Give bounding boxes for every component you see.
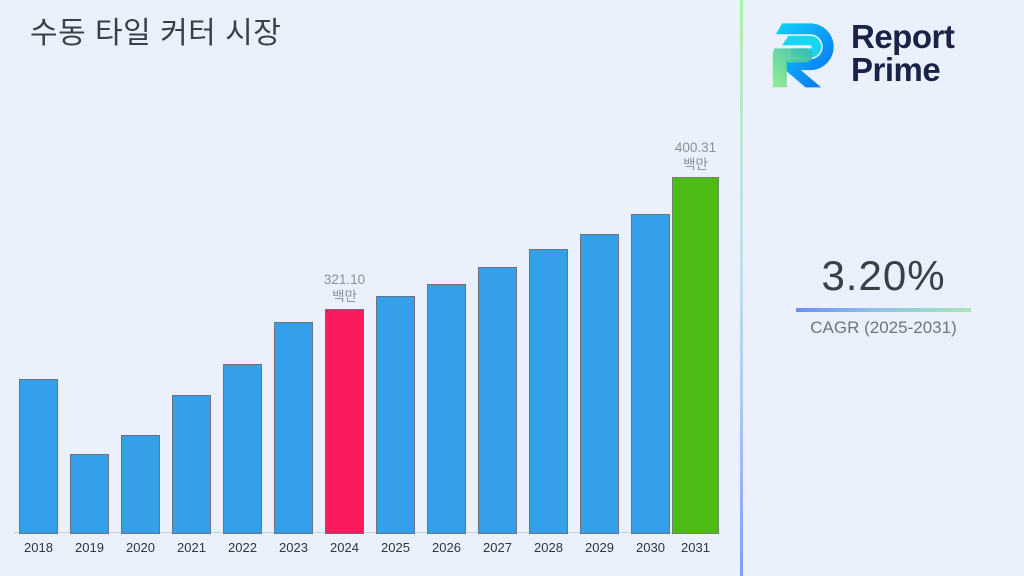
brand-wordmark: Report Prime — [851, 20, 954, 86]
bar-rect-2022 — [223, 364, 262, 534]
bar-rect-2023 — [274, 322, 313, 534]
bar-value-label-2024: 321.10백만 — [324, 271, 365, 305]
brand-panel: Report Prime 3.20% CAGR (2025-2031) — [743, 0, 1024, 576]
bar-rect-2024 — [325, 309, 364, 534]
bar-rect-2026 — [427, 284, 466, 534]
bar-2023 — [274, 322, 313, 534]
chart-panel: 수동 타일 커터 시장 321.10백만400.31백만 20182019202… — [0, 0, 740, 576]
bar-value-label-2031: 400.31백만 — [675, 139, 716, 173]
bar-chart-plot-area: 321.10백만400.31백만 — [0, 0, 740, 534]
bar-rect-2029 — [580, 234, 619, 534]
bar-2018 — [19, 379, 58, 534]
bar-2029 — [580, 234, 619, 534]
brand-logo: Report Prime — [765, 12, 1010, 94]
bar-2028 — [529, 249, 568, 534]
bar-rect-2028 — [529, 249, 568, 534]
x-axis-tick-2031: 2031 — [666, 540, 726, 555]
brand-name-line2: Prime — [851, 53, 954, 86]
report-prime-logo-icon — [765, 17, 843, 89]
bar-value-number-2031: 400.31 — [675, 139, 716, 156]
bar-rect-2018 — [19, 379, 58, 534]
bar-2019 — [70, 454, 109, 534]
bar-2021 — [172, 395, 211, 534]
slide-root: 수동 타일 커터 시장 321.10백만400.31백만 20182019202… — [0, 0, 1024, 576]
bar-2024: 321.10백만 — [325, 309, 364, 534]
bar-2025 — [376, 296, 415, 534]
cagr-caption: CAGR (2025-2031) — [743, 318, 1024, 338]
bar-rect-2025 — [376, 296, 415, 534]
cagr-block: 3.20% CAGR (2025-2031) — [743, 252, 1024, 338]
bar-2030 — [631, 214, 670, 534]
bar-2026 — [427, 284, 466, 534]
bar-2031: 400.31백만 — [672, 177, 719, 534]
bar-2022 — [223, 364, 262, 534]
bar-2027 — [478, 267, 517, 534]
bar-2020 — [121, 435, 160, 534]
bar-rect-2021 — [172, 395, 211, 534]
bar-value-unit-2031: 백만 — [675, 156, 716, 173]
bar-rect-2027 — [478, 267, 517, 534]
cagr-value: 3.20% — [743, 252, 1024, 300]
bar-value-number-2024: 321.10 — [324, 271, 365, 288]
cagr-divider-rule — [796, 308, 971, 312]
bar-rect-2020 — [121, 435, 160, 534]
bar-value-unit-2024: 백만 — [324, 288, 365, 305]
brand-name-line1: Report — [851, 20, 954, 53]
bar-rect-2031 — [672, 177, 719, 534]
bar-rect-2030 — [631, 214, 670, 534]
bar-rect-2019 — [70, 454, 109, 534]
